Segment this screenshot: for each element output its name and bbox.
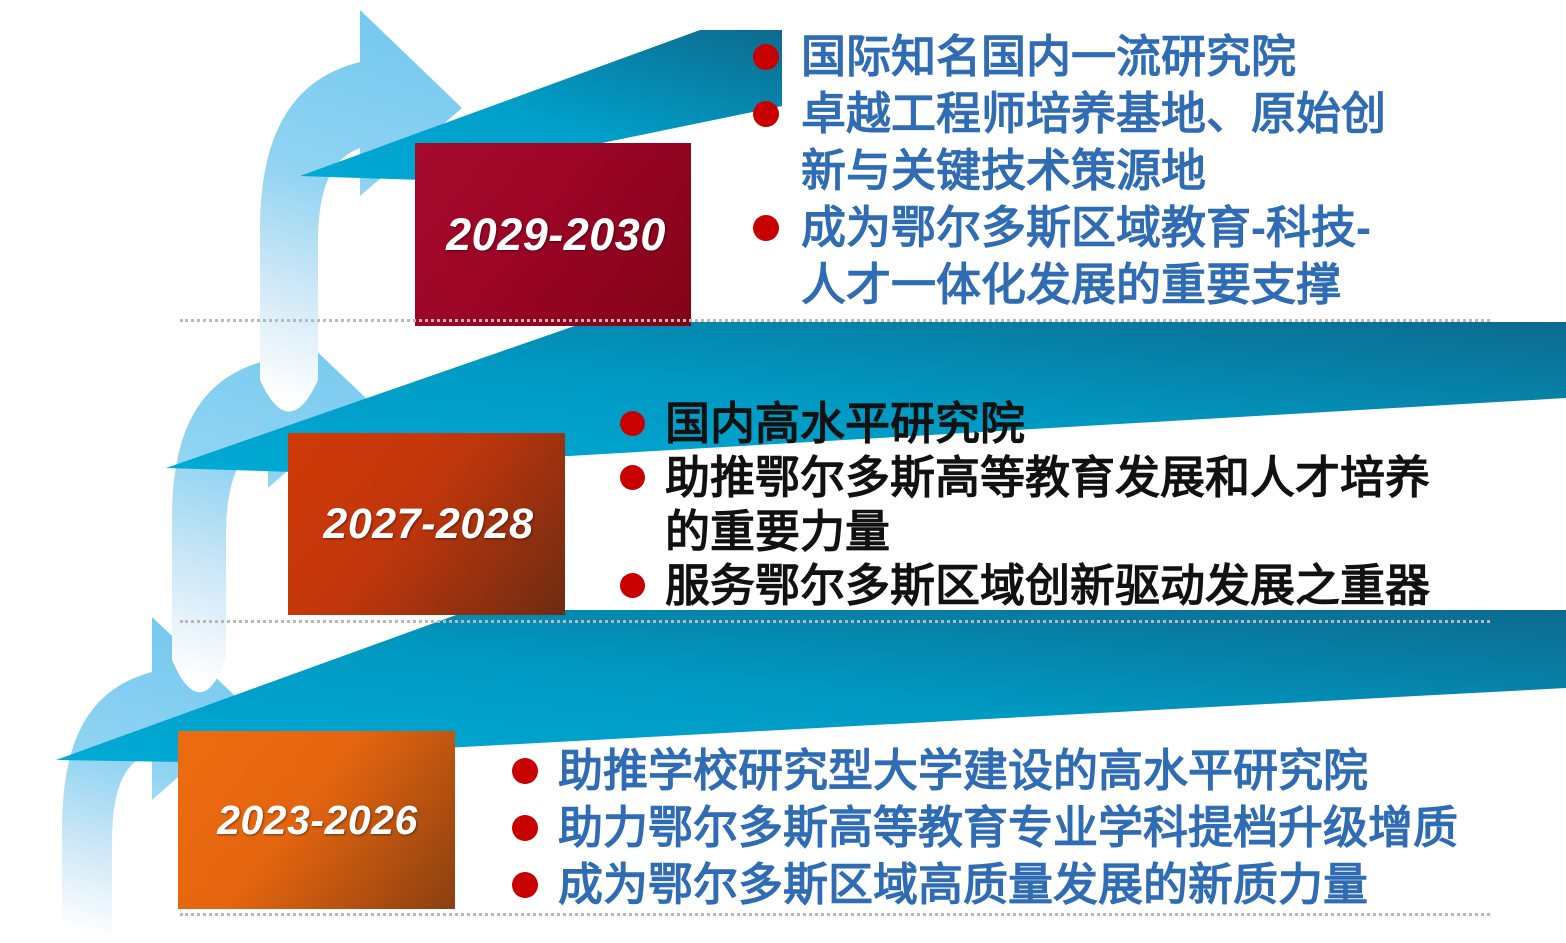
bullet-group-2029-2030: 国际知名国内一流研究院 卓越工程师培养基地、原始创 新与关键技术策源地 成为鄂尔… [753,28,1543,313]
bullet-dot-icon [753,44,779,70]
bullet-text: 卓越工程师培养基地、原始创 新与关键技术策源地 [801,85,1543,199]
list-item: 成为鄂尔多斯区域高质量发展的新质力量 [512,856,1522,913]
bullet-text: 助推鄂尔多斯高等教育发展和人才培养 的重要力量 [665,451,1540,559]
list-item: 卓越工程师培养基地、原始创 新与关键技术策源地 [753,85,1543,199]
bullet-group-2023-2026: 助推学校研究型大学建设的高水平研究院 助力鄂尔多斯高等教育专业学科提档升级增质 … [512,742,1522,913]
list-item: 助推鄂尔多斯高等教育发展和人才培养 的重要力量 [620,451,1540,559]
year-label-2027-2028: 2027-2028 [288,500,565,549]
bullet-text: 助力鄂尔多斯高等教育专业学科提档升级增质 [558,799,1522,856]
list-item: 成为鄂尔多斯区域教育-科技- 人才一体化发展的重要支撑 [753,199,1543,313]
separator-line-bottom [180,913,1490,916]
separator-line-middle [180,620,1490,623]
bullet-group-2027-2028: 国内高水平研究院 助推鄂尔多斯高等教育发展和人才培养 的重要力量 服务鄂尔多斯区… [620,397,1540,613]
list-item: 服务鄂尔多斯区域创新驱动发展之重器 [620,559,1540,613]
bullet-dot-icon [620,411,645,436]
bullet-dot-icon [620,573,645,598]
list-item: 国际知名国内一流研究院 [753,28,1543,85]
bullet-dot-icon [753,101,779,127]
bullet-text: 服务鄂尔多斯区域创新驱动发展之重器 [665,559,1540,613]
bullet-text: 助推学校研究型大学建设的高水平研究院 [558,742,1522,799]
bullet-text: 国内高水平研究院 [665,397,1540,451]
year-box-2027-2028[interactable]: 2027-2028 [288,433,565,615]
bullet-dot-icon [512,815,538,841]
bullet-dot-icon [753,215,779,241]
year-box-2023-2026[interactable]: 2023-2026 [178,731,455,909]
year-box-2029-2030[interactable]: 2029-2030 [415,143,691,326]
list-item: 助推学校研究型大学建设的高水平研究院 [512,742,1522,799]
bullet-text: 国际知名国内一流研究院 [801,28,1543,85]
bullet-dot-icon [512,872,538,898]
bullet-dot-icon [512,758,538,784]
bullet-text: 成为鄂尔多斯区域教育-科技- 人才一体化发展的重要支撑 [801,199,1543,313]
year-label-2023-2026: 2023-2026 [178,797,455,844]
roadmap-slide: 2029-2030 2027-2028 2023-2026 国际知名国内一流研究… [0,0,1566,943]
list-item: 国内高水平研究院 [620,397,1540,451]
separator-line-top [180,319,1490,322]
list-item: 助力鄂尔多斯高等教育专业学科提档升级增质 [512,799,1522,856]
year-label-2029-2030: 2029-2030 [415,209,691,261]
bullet-text: 成为鄂尔多斯区域高质量发展的新质力量 [558,856,1522,913]
bullet-dot-icon [620,465,645,490]
